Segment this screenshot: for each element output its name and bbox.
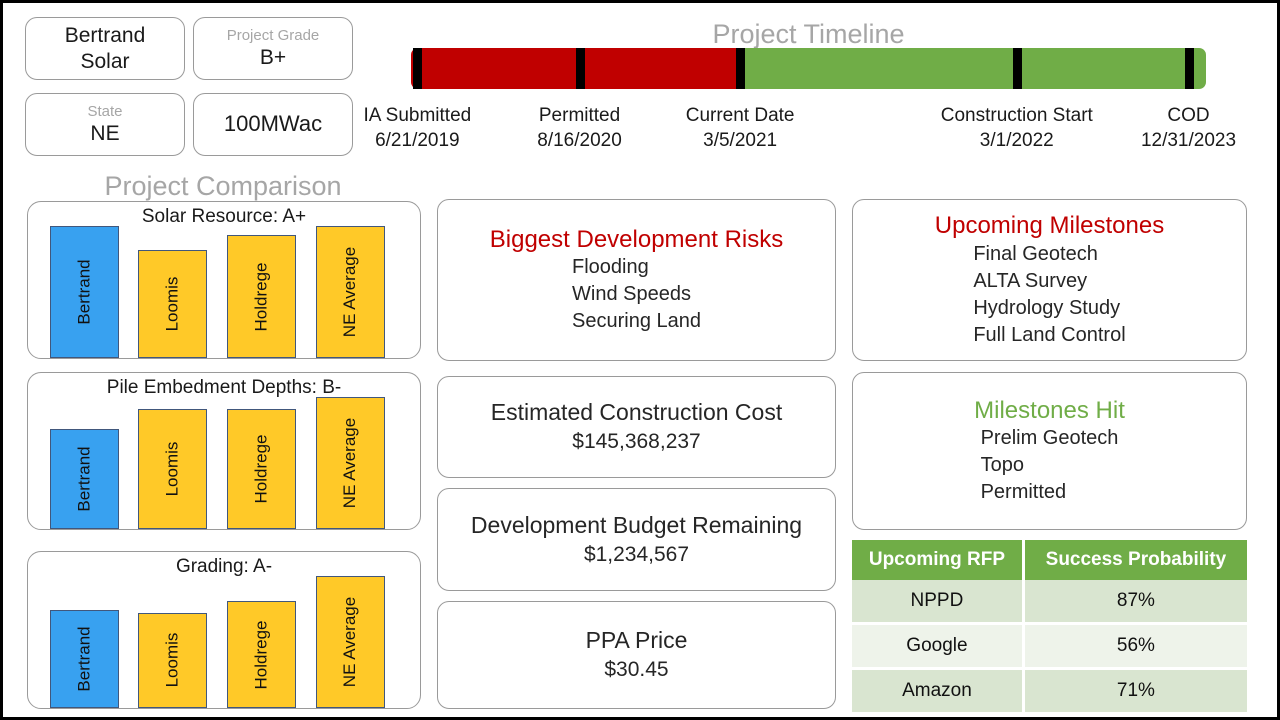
milestones-hit-title: Milestones Hit	[974, 396, 1125, 426]
chart-bar-label: Loomis	[163, 442, 183, 497]
timeline-segment-future	[745, 48, 1206, 89]
table-header-row: Upcoming RFPSuccess Probability	[852, 540, 1247, 580]
chart-bar: Bertrand	[50, 429, 119, 529]
chart-card-grading: Grading: A-BertrandLoomisHoldregeNE Aver…	[27, 551, 421, 709]
table-column-header: Success Probability	[1023, 540, 1247, 580]
milestone-hit-item: Prelim Geotech	[981, 425, 1119, 452]
ppa-price-title: PPA Price	[586, 626, 688, 656]
upcoming-milestone-item: Final Geotech	[973, 241, 1125, 268]
timeline-marker	[736, 48, 745, 89]
development-risks-title: Biggest Development Risks	[490, 225, 783, 255]
chart-bar: NE Average	[316, 397, 385, 529]
chart-bars: BertrandLoomisHoldregeNE Average	[28, 552, 420, 708]
development-risk-item: Wind Speeds	[572, 281, 701, 308]
chart-bar: Loomis	[138, 250, 207, 358]
milestone-name: Permitted	[537, 103, 622, 128]
timeline-marker	[413, 48, 422, 89]
upcoming-rfp-table: Upcoming RFPSuccess Probability NPPD87%G…	[852, 540, 1247, 715]
development-risks-card: Biggest Development Risks FloodingWind S…	[437, 199, 836, 361]
project-grade-label: Project Grade	[227, 27, 320, 44]
capacity-card: 100MWac	[193, 93, 353, 156]
chart-bar-label: Holdrege	[251, 434, 271, 503]
construction-cost-title: Estimated Construction Cost	[491, 398, 782, 428]
development-risk-item: Securing Land	[572, 308, 701, 335]
chart-bar: Bertrand	[50, 226, 119, 358]
upcoming-milestones-list: Final GeotechALTA SurveyHydrology StudyF…	[973, 241, 1125, 349]
project-name-line2: Solar	[80, 49, 129, 74]
milestone-hit-item: Topo	[981, 452, 1119, 479]
chart-bar-label: Loomis	[163, 276, 183, 331]
table-row: Google56%	[852, 624, 1247, 669]
milestone-date: 8/16/2020	[537, 128, 622, 153]
chart-bar: NE Average	[316, 576, 385, 708]
upcoming-milestones-title: Upcoming Milestones	[935, 211, 1164, 241]
development-budget-value: $1,234,567	[584, 541, 689, 568]
timeline-milestone-label: IA Submitted6/21/2019	[363, 103, 471, 153]
upcoming-milestones-card: Upcoming Milestones Final GeotechALTA Su…	[852, 199, 1247, 361]
timeline-marker	[1013, 48, 1022, 89]
table-column-header: Upcoming RFP	[852, 540, 1023, 580]
chart-bar: NE Average	[316, 226, 385, 358]
table-row: Amazon71%	[852, 669, 1247, 714]
chart-bar-label: NE Average	[340, 597, 360, 687]
chart-bar-label: NE Average	[340, 418, 360, 508]
chart-bars: BertrandLoomisHoldregeNE Average	[28, 373, 420, 529]
timeline-milestone-label: Construction Start3/1/2022	[941, 103, 1093, 153]
upcoming-milestone-item: Hydrology Study	[973, 295, 1125, 322]
state-label: State	[87, 103, 122, 120]
construction-cost-card: Estimated Construction Cost $145,368,237	[437, 376, 836, 478]
chart-bar-label: Bertrand	[74, 627, 94, 692]
table-body: NPPD87%Google56%Amazon71%	[852, 580, 1247, 714]
ppa-price-value: $30.45	[604, 656, 668, 683]
milestone-date: 6/21/2019	[363, 128, 471, 153]
success-probability-cell: 87%	[1023, 580, 1247, 624]
milestones-hit-list: Prelim GeotechTopoPermitted	[981, 425, 1119, 506]
state-card: State NE	[25, 93, 185, 156]
timeline-milestone-label: Permitted8/16/2020	[537, 103, 622, 153]
milestone-name: Construction Start	[941, 103, 1093, 128]
ppa-price-card: PPA Price $30.45	[437, 601, 836, 709]
milestone-date: 12/31/2023	[1141, 128, 1236, 153]
project-grade-value: B+	[260, 45, 286, 70]
milestone-date: 3/5/2021	[686, 128, 795, 153]
chart-bar: Holdrege	[227, 409, 296, 529]
state-value: NE	[90, 121, 119, 146]
timeline-marker	[576, 48, 585, 89]
project-name-card: Bertrand Solar	[25, 17, 185, 80]
chart-bar-label: Bertrand	[74, 259, 94, 324]
chart-card-solar-resource: Solar Resource: A+BertrandLoomisHoldrege…	[27, 201, 421, 359]
development-budget-title: Development Budget Remaining	[471, 511, 802, 541]
milestone-name: COD	[1141, 103, 1236, 128]
capacity-value: 100MWac	[224, 111, 322, 137]
chart-bar: Holdrege	[227, 235, 296, 358]
table-row: NPPD87%	[852, 580, 1247, 624]
rfp-name-cell: Amazon	[852, 669, 1023, 714]
upcoming-milestone-item: ALTA Survey	[973, 268, 1125, 295]
milestone-name: IA Submitted	[363, 103, 471, 128]
development-risk-item: Flooding	[572, 254, 701, 281]
rfp-name-cell: NPPD	[852, 580, 1023, 624]
chart-bars: BertrandLoomisHoldregeNE Average	[28, 202, 420, 358]
timeline-milestone-label: Current Date3/5/2021	[686, 103, 795, 153]
chart-bar-label: Bertrand	[74, 446, 94, 511]
chart-bar: Bertrand	[50, 610, 119, 708]
timeline-marker	[1185, 48, 1194, 89]
project-name-line1: Bertrand	[65, 23, 146, 48]
chart-bar-label: Holdrege	[251, 620, 271, 689]
chart-bar-label: NE Average	[340, 247, 360, 337]
success-probability-cell: 56%	[1023, 624, 1247, 669]
timeline-milestone-label: COD12/31/2023	[1141, 103, 1236, 153]
chart-bar-label: Holdrege	[251, 262, 271, 331]
milestone-hit-item: Permitted	[981, 479, 1119, 506]
development-budget-card: Development Budget Remaining $1,234,567	[437, 488, 836, 591]
upcoming-milestone-item: Full Land Control	[973, 322, 1125, 349]
rfp-name-cell: Google	[852, 624, 1023, 669]
development-risks-list: FloodingWind SpeedsSecuring Land	[572, 254, 701, 335]
construction-cost-value: $145,368,237	[572, 428, 700, 455]
chart-bar: Loomis	[138, 409, 207, 529]
success-probability-cell: 71%	[1023, 669, 1247, 714]
chart-card-pile-embedment: Pile Embedment Depths: B-BertrandLoomisH…	[27, 372, 421, 530]
chart-bar: Holdrege	[227, 601, 296, 708]
dashboard-slide: Bertrand Solar Project Grade B+ State NE…	[0, 0, 1280, 720]
milestone-name: Current Date	[686, 103, 795, 128]
timeline-title: Project Timeline	[411, 19, 1206, 50]
project-comparison-title: Project Comparison	[25, 171, 421, 202]
project-timeline-bar	[411, 48, 1206, 89]
milestones-hit-card: Milestones Hit Prelim GeotechTopoPermitt…	[852, 372, 1247, 530]
chart-bar: Loomis	[138, 613, 207, 708]
milestone-date: 3/1/2022	[941, 128, 1093, 153]
chart-bar-label: Loomis	[163, 633, 183, 688]
project-grade-card: Project Grade B+	[193, 17, 353, 80]
